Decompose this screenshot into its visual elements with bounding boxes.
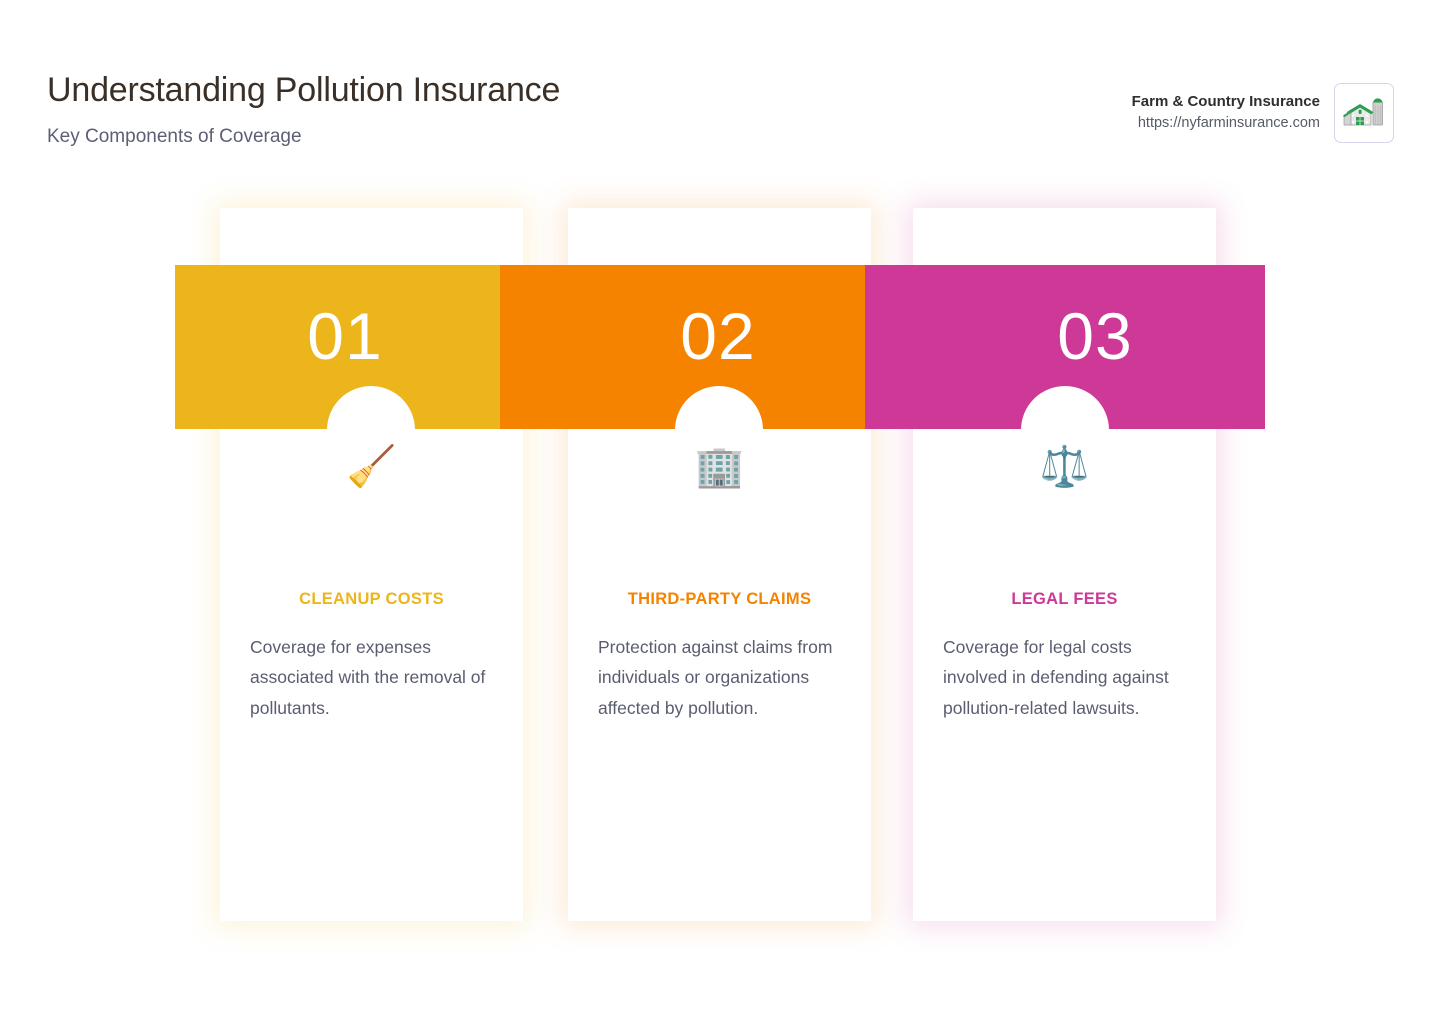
- brand-url[interactable]: https://nyfarminsurance.com: [1132, 112, 1320, 134]
- step-description: Protection against claims from individua…: [598, 632, 850, 723]
- page-title: Understanding Pollution Insurance: [47, 72, 560, 109]
- step-number: 01: [245, 295, 445, 378]
- step-heading: CLEANUP COSTS: [220, 590, 523, 610]
- step-heading: LEGAL FEES: [913, 590, 1216, 610]
- page-subtitle: Key Components of Coverage: [47, 109, 560, 148]
- step-number: 02: [618, 295, 818, 378]
- barn-logo-icon: [1334, 83, 1394, 143]
- step-number-band: 01 02 03: [175, 265, 1265, 429]
- brand-name: Farm & Country Insurance: [1132, 92, 1320, 112]
- brand-block: Farm & Country Insurance https://nyfarmi…: [1132, 83, 1394, 143]
- step-number: 03: [995, 295, 1195, 378]
- step-heading: THIRD-PARTY CLAIMS: [568, 590, 871, 610]
- office-building-icon: 🏢: [568, 447, 871, 493]
- page-header: Understanding Pollution Insurance Key Co…: [0, 0, 1440, 185]
- brand-text: Farm & Country Insurance https://nyfarmi…: [1132, 92, 1320, 134]
- step-description: Coverage for legal costs involved in def…: [943, 632, 1195, 723]
- broom-icon: 🧹: [220, 447, 523, 493]
- step-description: Coverage for expenses associated with th…: [250, 632, 502, 723]
- balance-scale-icon: ⚖️: [913, 447, 1216, 493]
- title-block: Understanding Pollution Insurance Key Co…: [47, 72, 560, 148]
